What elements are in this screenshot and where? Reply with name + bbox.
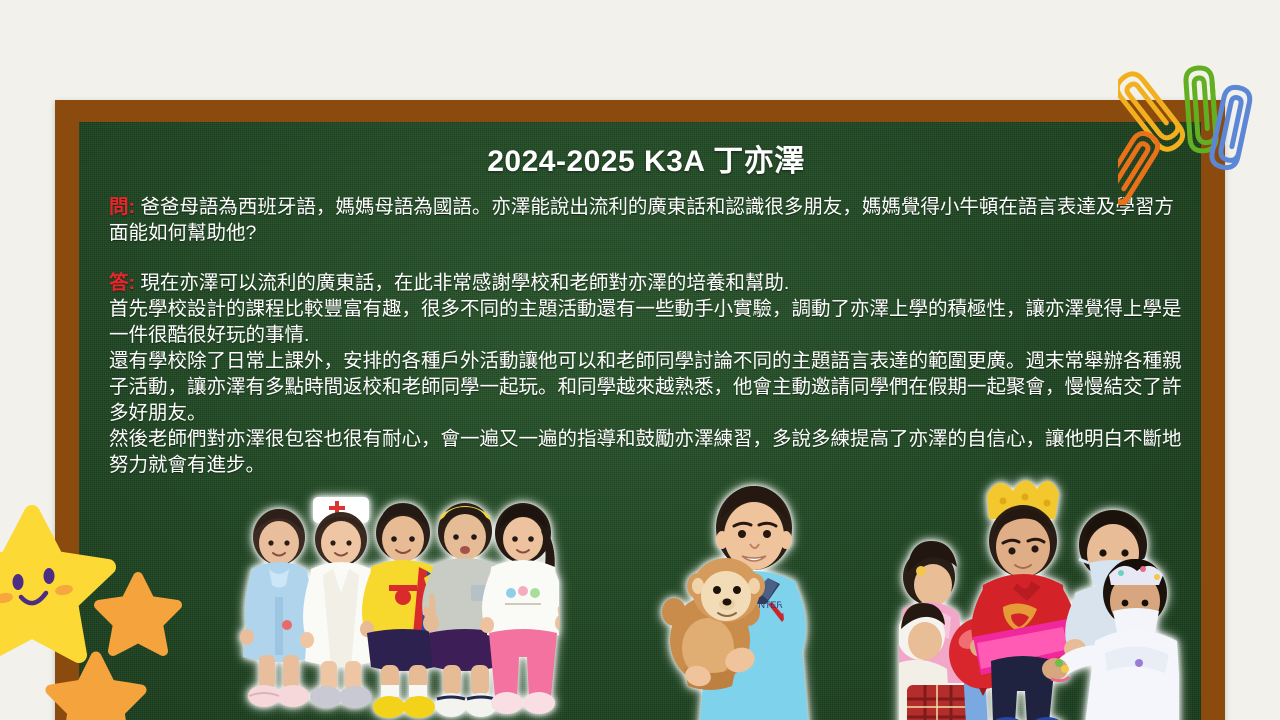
question-label: 問 [109, 196, 129, 218]
answer-line-3: 還有學校除了日常上課外，安排的各種戶外活動讓他可以和老師同學討論不同的主題語言表… [109, 350, 1182, 424]
paperclip-green [1185, 67, 1217, 152]
photo-children-party-balloon [899, 457, 1179, 720]
star-eye-right [44, 568, 55, 584]
star-small-orange-lower [51, 657, 141, 720]
blackboard-surface: 2024-2025 K3A 丁亦澤 問: 爸爸母語為西班牙語，媽媽母語為國語。亦… [79, 122, 1201, 720]
answer-line-1: 現在亦澤可以流利的廣東話，在此非常感謝學校和老師對亦澤的培養和幫助. [135, 272, 789, 294]
slide-canvas: 2024-2025 K3A 丁亦澤 問: 爸爸母語為西班牙語，媽媽母語為國語。亦… [0, 0, 1280, 720]
blackboard-frame: 2024-2025 K3A 丁亦澤 問: 爸爸母語為西班牙語，媽媽母語為國語。亦… [55, 100, 1225, 720]
photo-five-children-dressup [229, 477, 559, 720]
answer-line-2: 首先學校設計的課程比較豐富有趣，很多不同的主題活動還有一些動手小實驗，調動了亦澤… [109, 298, 1182, 346]
question-text: 爸爸母語為西班牙語，媽媽母語為國語。亦澤能說出流利的廣東話和認識很多朋友，媽媽覺… [109, 196, 1174, 244]
board-text-block: 2024-2025 K3A 丁亦澤 問: 爸爸母語為西班牙語，媽媽母語為國語。亦… [109, 136, 1183, 478]
paperclip-orange [1118, 129, 1162, 205]
question-paragraph: 問: 爸爸母語為西班牙語，媽媽母語為國語。亦澤能說出流利的廣東話和認識很多朋友，… [109, 194, 1183, 246]
star-cluster [0, 505, 188, 720]
star-big-smiling [0, 513, 108, 655]
answer-paragraph: 答: 現在亦澤可以流利的廣東話，在此非常感謝學校和老師對亦澤的培養和幫助. 首先… [109, 270, 1183, 478]
answer-label: 答 [109, 272, 129, 294]
svg-text:INTER: INTER [756, 600, 784, 610]
page-title: 2024-2025 K3A 丁亦澤 [109, 136, 1183, 180]
photo-boy-with-monkey-plush: INTER ON [654, 462, 854, 720]
paperclip-blue [1210, 85, 1252, 170]
star-eye-left [13, 574, 24, 590]
paperclip-cluster [1118, 55, 1280, 205]
star-small-orange-upper [99, 577, 177, 651]
paperclip-yellow [1118, 69, 1187, 154]
